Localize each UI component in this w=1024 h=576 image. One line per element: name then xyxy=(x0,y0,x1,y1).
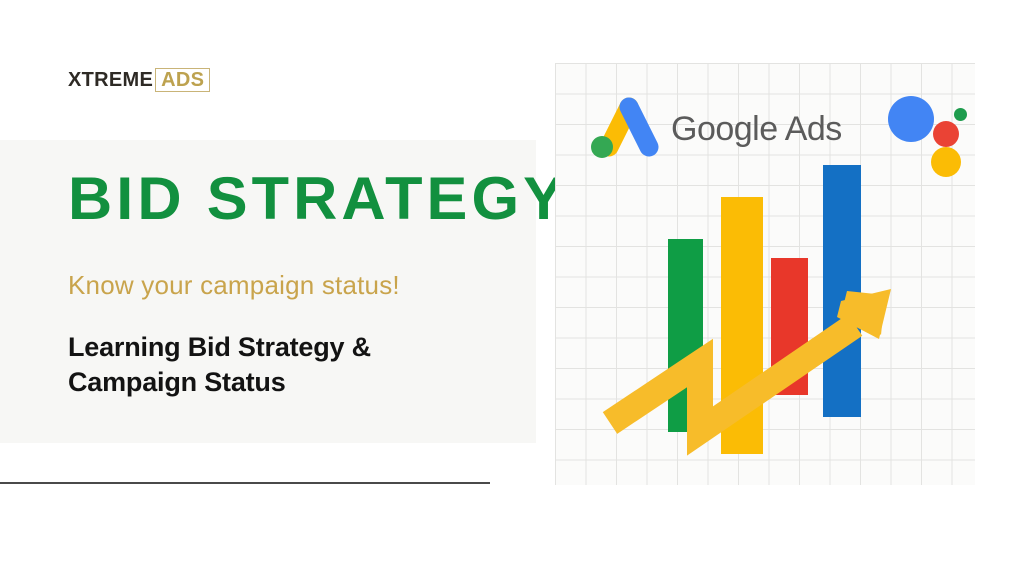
brand-logo[interactable]: XTREME ADS xyxy=(68,68,210,92)
page-description-line-2: Campaign Status xyxy=(68,365,498,400)
brand-name-primary: XTREME xyxy=(68,68,155,92)
page-title: BID STRATEGY xyxy=(68,168,568,230)
poster-canvas: XTREME ADS BID STRATEGY Know your campai… xyxy=(0,0,1024,576)
brand-name-boxed: ADS xyxy=(155,68,210,92)
divider-rule xyxy=(0,482,490,484)
page-subtitle: Know your campaign status! xyxy=(68,268,400,302)
growth-arrow-icon xyxy=(555,63,975,485)
graphic-panel: Google Ads xyxy=(555,63,975,485)
page-description-line-1: Learning Bid Strategy & xyxy=(68,330,498,365)
page-description: Learning Bid Strategy & Campaign Status xyxy=(68,330,498,400)
